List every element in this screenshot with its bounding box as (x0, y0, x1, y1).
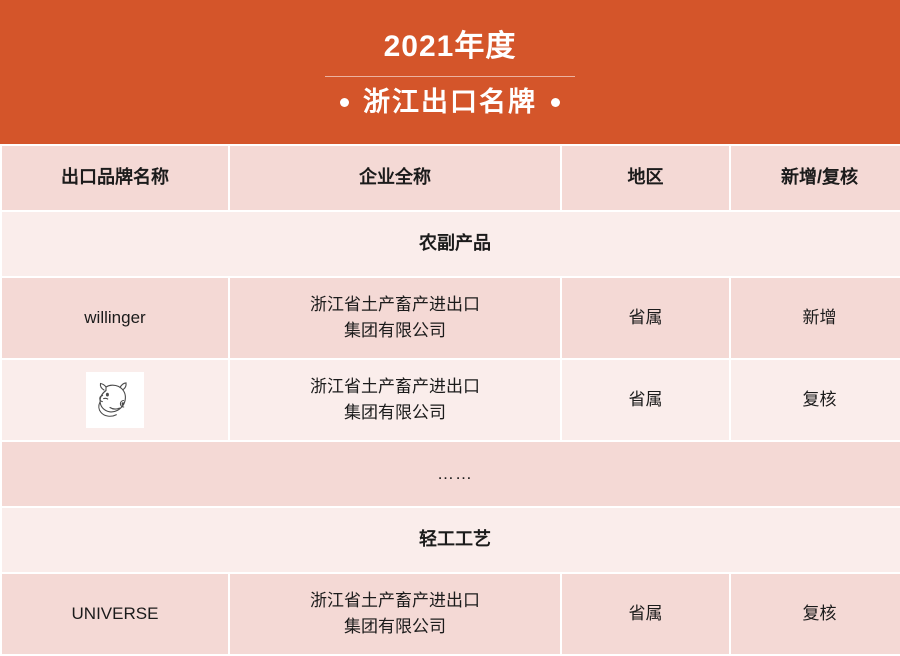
cell-company-name: 浙江省土产畜产进出口 集团有限公司 (230, 574, 560, 654)
table-row[interactable]: 浙江省土产畜产进出口 集团有限公司 省属 复核 (2, 360, 900, 440)
banner-subtitle-group: 浙江出口名牌 (340, 89, 560, 116)
cell-status: 复核 (731, 574, 900, 654)
banner-year-title: 2021年度 (384, 32, 517, 62)
column-header-status: 新增/复核 (731, 146, 900, 210)
cell-company-name: 浙江省土产畜产进出口 集团有限公司 (230, 360, 560, 440)
column-header-brand: 出口品牌名称 (2, 146, 228, 210)
cell-region: 省属 (562, 574, 729, 654)
column-header-company: 企业全称 (230, 146, 560, 210)
export-brand-poster: 2021年度 浙江出口名牌 出口品牌名称 企业全称 地区 新增/复核 农副产品 … (0, 0, 900, 655)
brand-logo-animal-sketch-icon (86, 372, 144, 428)
banner-divider (325, 76, 575, 77)
banner-subtitle: 浙江出口名牌 (363, 89, 537, 116)
bullet-dot-icon-left (340, 98, 349, 107)
section-title-light-industry: 轻工工艺 (2, 508, 900, 572)
section-title-agricultural: 农副产品 (2, 212, 900, 276)
cell-brand-name: willinger (2, 278, 228, 358)
poster-banner: 2021年度 浙江出口名牌 (0, 0, 900, 144)
brand-list-table: 出口品牌名称 企业全称 地区 新增/复核 农副产品 willinger 浙江省土… (0, 144, 900, 656)
section-title-row: 农副产品 (2, 212, 900, 276)
section-title-row: 轻工工艺 (2, 508, 900, 572)
cell-brand-name: UNIVERSE (2, 574, 228, 654)
table-row[interactable]: willinger 浙江省土产畜产进出口 集团有限公司 省属 新增 (2, 278, 900, 358)
bullet-dot-icon-right (551, 98, 560, 107)
cell-status: 新增 (731, 278, 900, 358)
cell-company-name: 浙江省土产畜产进出口 集团有限公司 (230, 278, 560, 358)
cell-region: 省属 (562, 360, 729, 440)
cell-status: 复核 (731, 360, 900, 440)
cell-brand-logo (2, 360, 228, 440)
table-row[interactable]: UNIVERSE 浙江省土产畜产进出口 集团有限公司 省属 复核 (2, 574, 900, 654)
table-header-row: 出口品牌名称 企业全称 地区 新增/复核 (2, 146, 900, 210)
column-header-region: 地区 (562, 146, 729, 210)
ellipsis-indicator: …… (2, 442, 900, 506)
cell-region: 省属 (562, 278, 729, 358)
table-ellipsis-row: …… (2, 442, 900, 506)
